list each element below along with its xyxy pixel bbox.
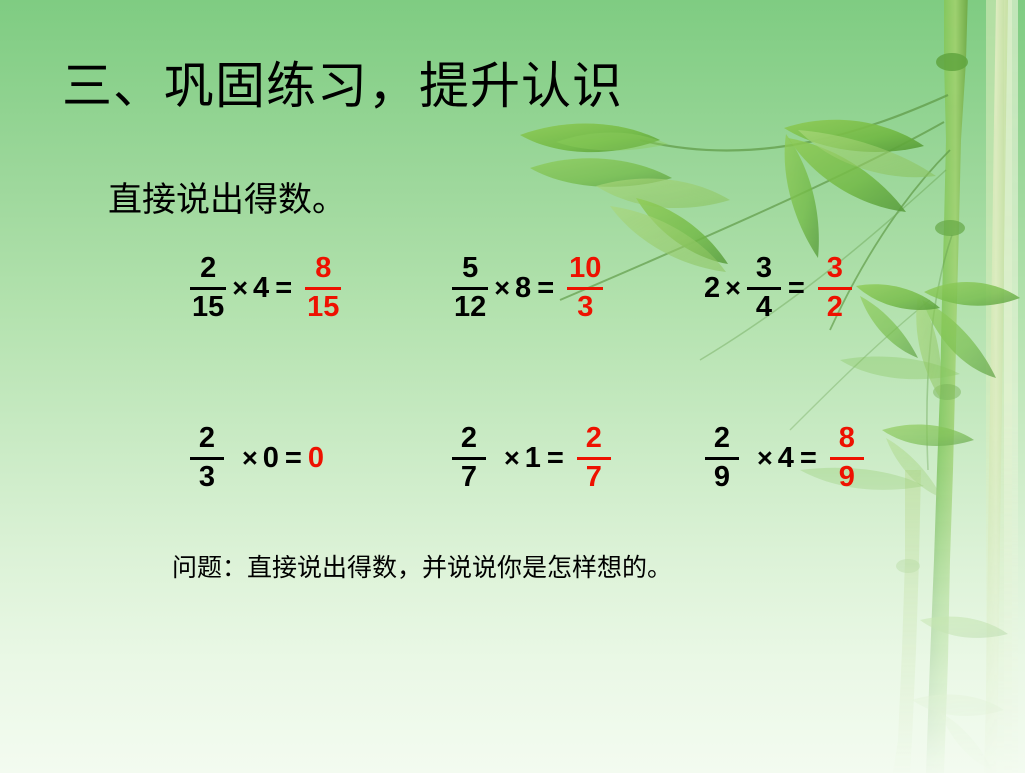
multiplier: 4 — [252, 272, 270, 305]
equals-operator: = — [270, 272, 297, 305]
answer-fraction-3: 3 2 — [818, 254, 852, 322]
exercise-item-6: 2 9 × 4 = 8 9 — [703, 412, 948, 504]
times-operator: × — [238, 443, 262, 474]
fraction-bar — [747, 287, 781, 290]
exercise-row-1: 2 15 × 4 = 8 15 5 12 × 8 = — [188, 242, 948, 334]
numerator: 2 — [459, 424, 479, 454]
multiplier: 1 — [524, 442, 542, 475]
times-operator: × — [228, 273, 252, 304]
denominator: 9 — [712, 463, 732, 493]
multiplier: 2 — [703, 272, 721, 305]
equals-operator: = — [795, 442, 822, 475]
exercise-item-3: 2 × 3 4 = 3 2 — [703, 242, 948, 334]
answer-fraction-bar — [305, 287, 341, 290]
times-operator: × — [490, 273, 514, 304]
answer-whole-4: 0 — [307, 442, 325, 475]
numerator: 3 — [754, 254, 774, 284]
answer-numerator: 8 — [313, 254, 333, 284]
answer-denominator: 15 — [305, 293, 341, 323]
fraction-left-1: 2 15 — [190, 254, 226, 322]
numerator: 2 — [712, 424, 732, 454]
answer-fraction-6: 8 9 — [830, 424, 864, 492]
slide-canvas: 三、巩固练习，提升认识 直接说出得数。 2 15 × 4 = 8 15 5 — [0, 0, 1025, 773]
fraction-bar — [705, 457, 739, 460]
fraction-left-2: 5 12 — [452, 254, 488, 322]
exercise-item-4: 2 3 × 0 = 0 — [188, 412, 450, 504]
equals-operator: = — [783, 272, 810, 305]
fraction-bar — [190, 287, 226, 290]
numerator: 5 — [460, 254, 480, 284]
equals-operator: = — [532, 272, 559, 305]
multiplier: 4 — [777, 442, 795, 475]
exercise-item-5: 2 7 × 1 = 2 7 — [450, 412, 703, 504]
answer-fraction-1: 8 15 — [305, 254, 341, 322]
exercise-item-1: 2 15 × 4 = 8 15 — [188, 242, 450, 334]
multiplier: 8 — [514, 272, 532, 305]
denominator: 3 — [197, 463, 217, 493]
equals-operator: = — [280, 442, 307, 475]
answer-fraction-bar — [577, 457, 611, 460]
page-title: 三、巩固练习，提升认识 — [62, 58, 623, 114]
answer-denominator: 2 — [825, 293, 845, 323]
bamboo-decoration — [0, 0, 1025, 773]
fraction-left-4: 2 3 — [190, 424, 224, 492]
exercise-item-2: 5 12 × 8 = 10 3 — [450, 242, 703, 334]
denominator: 12 — [452, 293, 488, 323]
answer-numerator: 10 — [567, 254, 603, 284]
denominator: 4 — [754, 293, 774, 323]
denominator: 15 — [190, 293, 226, 323]
times-operator: × — [721, 273, 745, 304]
equals-operator: = — [542, 442, 569, 475]
denominator: 7 — [459, 463, 479, 493]
multiplier: 0 — [262, 442, 280, 475]
fraction-bar — [452, 457, 486, 460]
fraction-bar — [190, 457, 224, 460]
question-prompt: 问题：直接说出得数，并说说你是怎样想的。 — [172, 548, 672, 584]
numerator: 2 — [198, 254, 218, 284]
answer-fraction-bar — [567, 287, 603, 290]
answer-denominator: 9 — [837, 463, 857, 493]
answer-denominator: 3 — [575, 293, 595, 323]
instruction-text: 直接说出得数。 — [108, 172, 346, 221]
answer-numerator: 3 — [825, 254, 845, 284]
answer-fraction-5: 2 7 — [577, 424, 611, 492]
fraction-left-6: 2 9 — [705, 424, 739, 492]
answer-numerator: 2 — [584, 424, 604, 454]
times-operator: × — [753, 443, 777, 474]
numerator: 2 — [197, 424, 217, 454]
fraction-bar — [452, 287, 488, 290]
answer-denominator: 7 — [584, 463, 604, 493]
exercise-row-2: 2 3 × 0 = 0 2 7 × 1 = 2 7 — [188, 412, 948, 504]
times-operator: × — [500, 443, 524, 474]
answer-fraction-bar — [830, 457, 864, 460]
fraction-left-5: 2 7 — [452, 424, 486, 492]
answer-fraction-2: 10 3 — [567, 254, 603, 322]
answer-fraction-bar — [818, 287, 852, 290]
bamboo-illustration — [0, 0, 1025, 773]
answer-numerator: 8 — [837, 424, 857, 454]
fraction-right-3: 3 4 — [747, 254, 781, 322]
